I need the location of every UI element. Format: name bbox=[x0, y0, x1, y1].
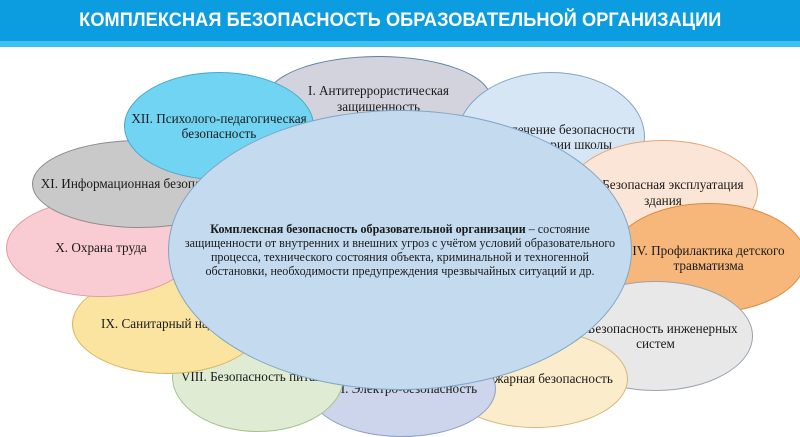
page-title: КОМПЛЕКСНАЯ БЕЗОПАСНОСТЬ ОБРАЗОВАТЕЛЬНОЙ… bbox=[79, 9, 721, 32]
ellipse-child-injury-prevention-label: IV. Профилактика детского травматизма bbox=[612, 243, 800, 274]
center-definition-ellipse: Комплексная безопасность образовательной… bbox=[168, 110, 632, 390]
title-banner: КОМПЛЕКСНАЯ БЕЗОПАСНОСТЬ ОБРАЗОВАТЕЛЬНОЙ… bbox=[0, 0, 800, 41]
center-definition-lead: Комплексная безопасность образовательной… bbox=[210, 222, 525, 236]
complex-safety-diagram: I. Антитеррористическая защищенность II.… bbox=[0, 47, 800, 432]
center-definition-text: Комплексная безопасность образовательной… bbox=[169, 222, 631, 278]
ellipse-labor-protection-label: X. Охрана труда bbox=[49, 240, 153, 255]
